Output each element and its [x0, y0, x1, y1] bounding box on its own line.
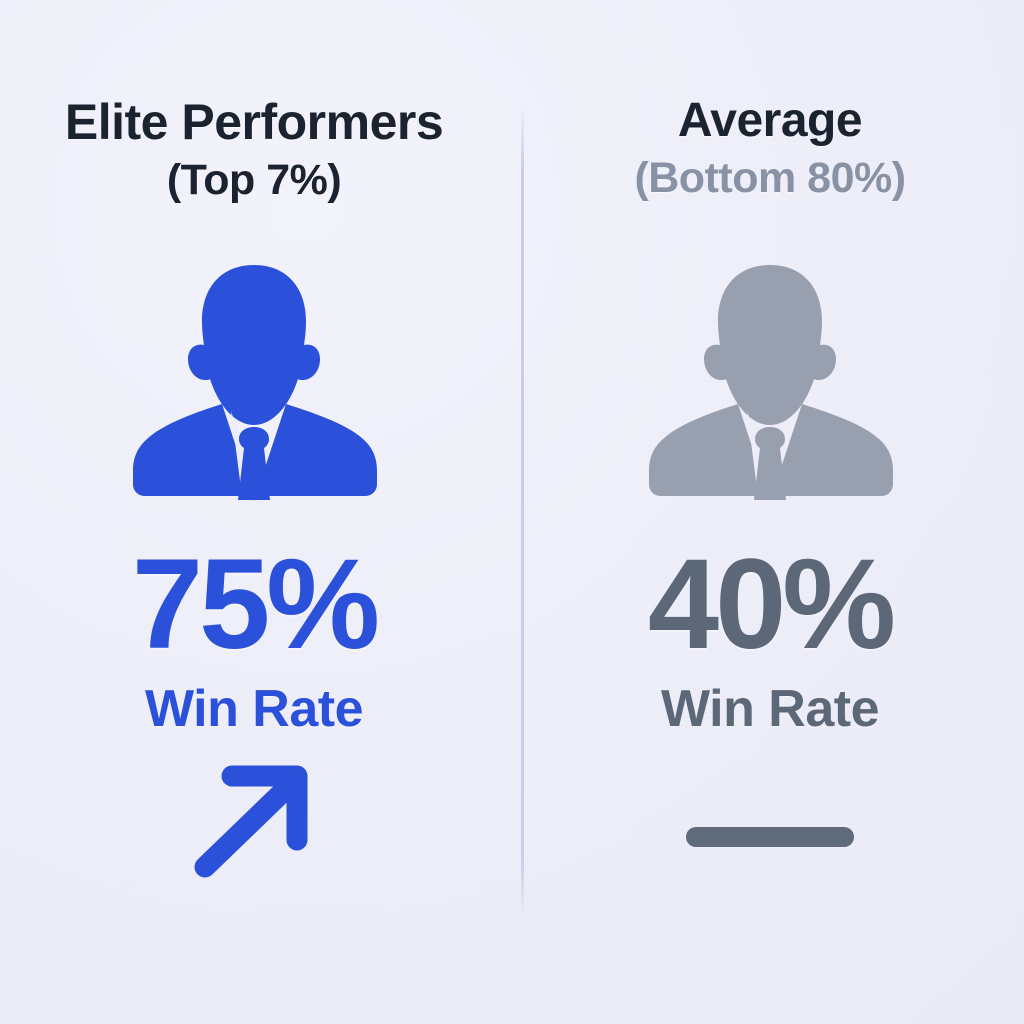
elite-heading: Elite Performers	[65, 96, 443, 148]
average-trend-indicator	[686, 761, 854, 881]
average-heading: Average	[678, 96, 862, 146]
elite-trend-indicator	[192, 761, 316, 881]
average-metric-label: Win Rate	[661, 683, 879, 735]
businessperson-silhouette-icon	[119, 251, 389, 511]
average-avatar	[635, 251, 905, 511]
average-subheading: (Bottom 80%)	[634, 156, 905, 201]
businessperson-silhouette-icon	[635, 251, 905, 511]
elite-metric-value: 75%	[132, 541, 376, 669]
infographic-canvas: Elite Performers (Top 7%) 75% Win Rate	[0, 0, 1024, 1024]
comparison-columns: Elite Performers (Top 7%) 75% Win Rate	[0, 0, 1024, 1024]
flat-line-icon	[686, 827, 854, 847]
elite-subheading: (Top 7%)	[167, 158, 341, 203]
column-elite-performers: Elite Performers (Top 7%) 75% Win Rate	[0, 0, 512, 1024]
column-average: Average (Bottom 80%) 40% Win Rate	[512, 0, 1024, 1024]
elite-metric-label: Win Rate	[145, 683, 363, 735]
elite-avatar	[119, 251, 389, 511]
arrow-up-right-icon	[192, 762, 316, 880]
average-metric-value: 40%	[648, 541, 892, 669]
